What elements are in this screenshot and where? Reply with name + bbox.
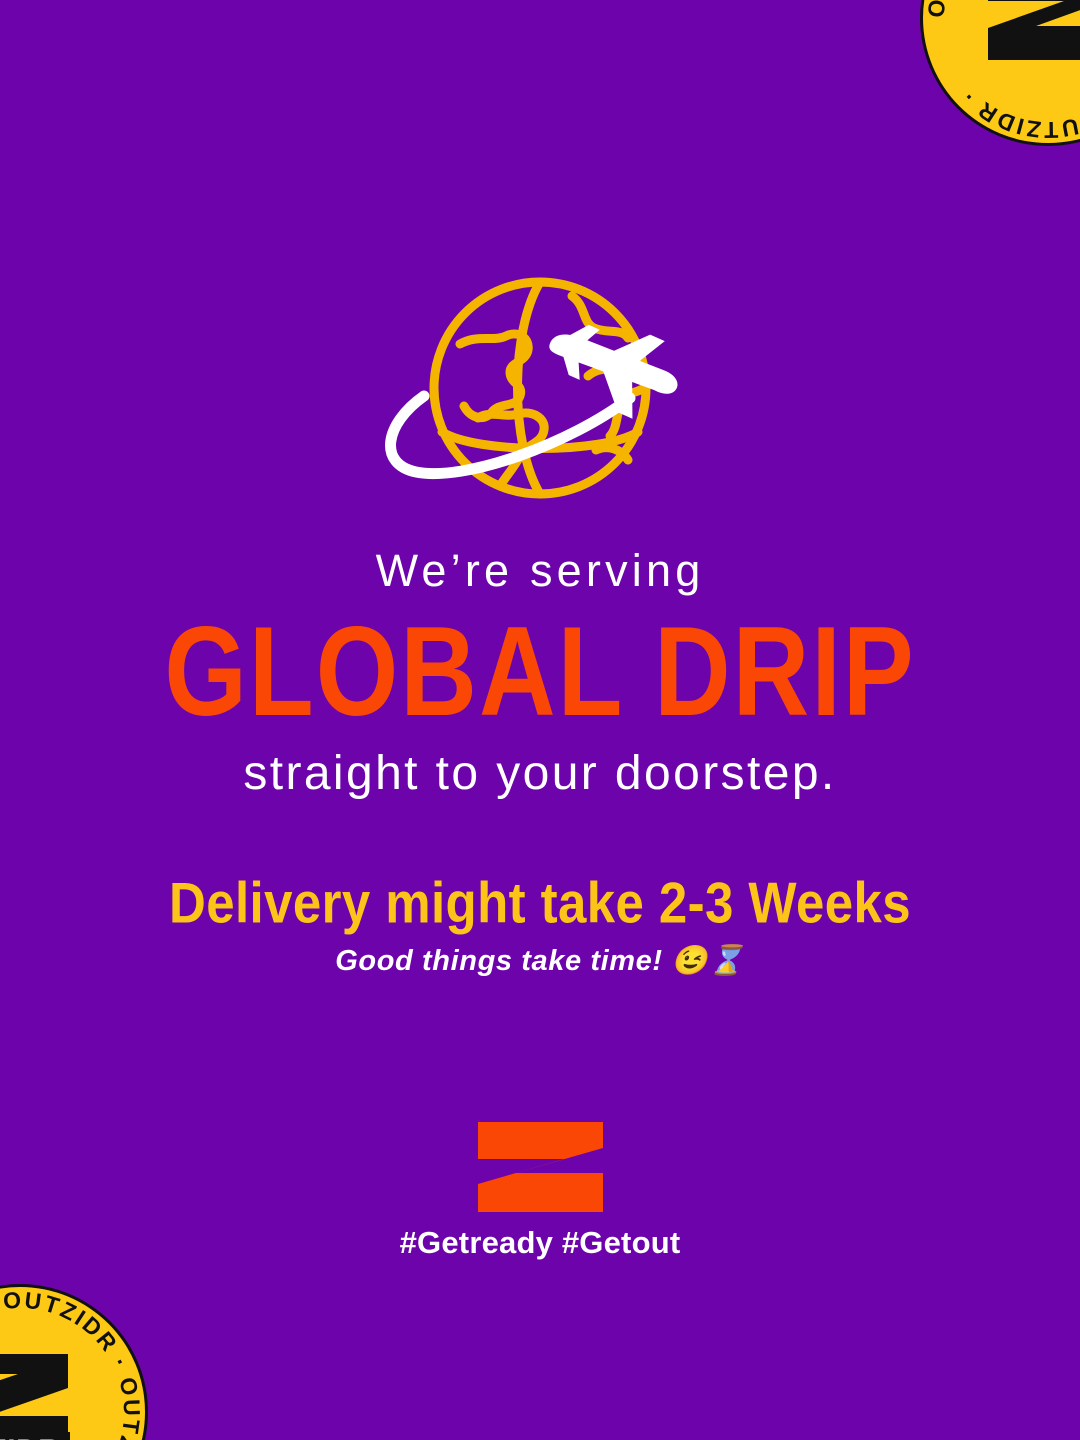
outzidr-stamp-bottom-left: OUTZIDR · OUTZIDR · OUTZIDR · OUTZIDR · … xyxy=(0,1282,150,1440)
svg-text:OUTZIDR: OUTZIDR xyxy=(0,1434,60,1440)
delivery-note-text: Delivery might take 2-3 Weeks xyxy=(0,873,1080,933)
z-logo-icon xyxy=(478,1122,603,1212)
subhead-text: straight to your doorstep. xyxy=(0,749,1080,799)
globe-airplane-icon xyxy=(360,272,720,504)
outzidr-stamp-top-right: OUTZIDR · OUTZIDR · OUTZIDR · OUTZIDR · xyxy=(918,0,1080,148)
eyebrow-text: We’re serving xyxy=(0,548,1080,595)
delivery-subtext: Good things take time! 😉⌛ xyxy=(0,946,1080,976)
footer-logo-block: #Getready #Getout xyxy=(0,1122,1080,1261)
headline-text: GLOBAL DRIP xyxy=(0,609,1080,736)
copy-block: We’re serving GLOBAL DRIP straight to yo… xyxy=(0,548,1080,977)
stamp-wordmark: OUTZIDR xyxy=(0,1432,70,1440)
hashtags-text: #Getready #Getout xyxy=(0,1225,1080,1261)
poster-canvas: OUTZIDR · OUTZIDR · OUTZIDR · OUTZIDR · … xyxy=(0,0,1080,1440)
